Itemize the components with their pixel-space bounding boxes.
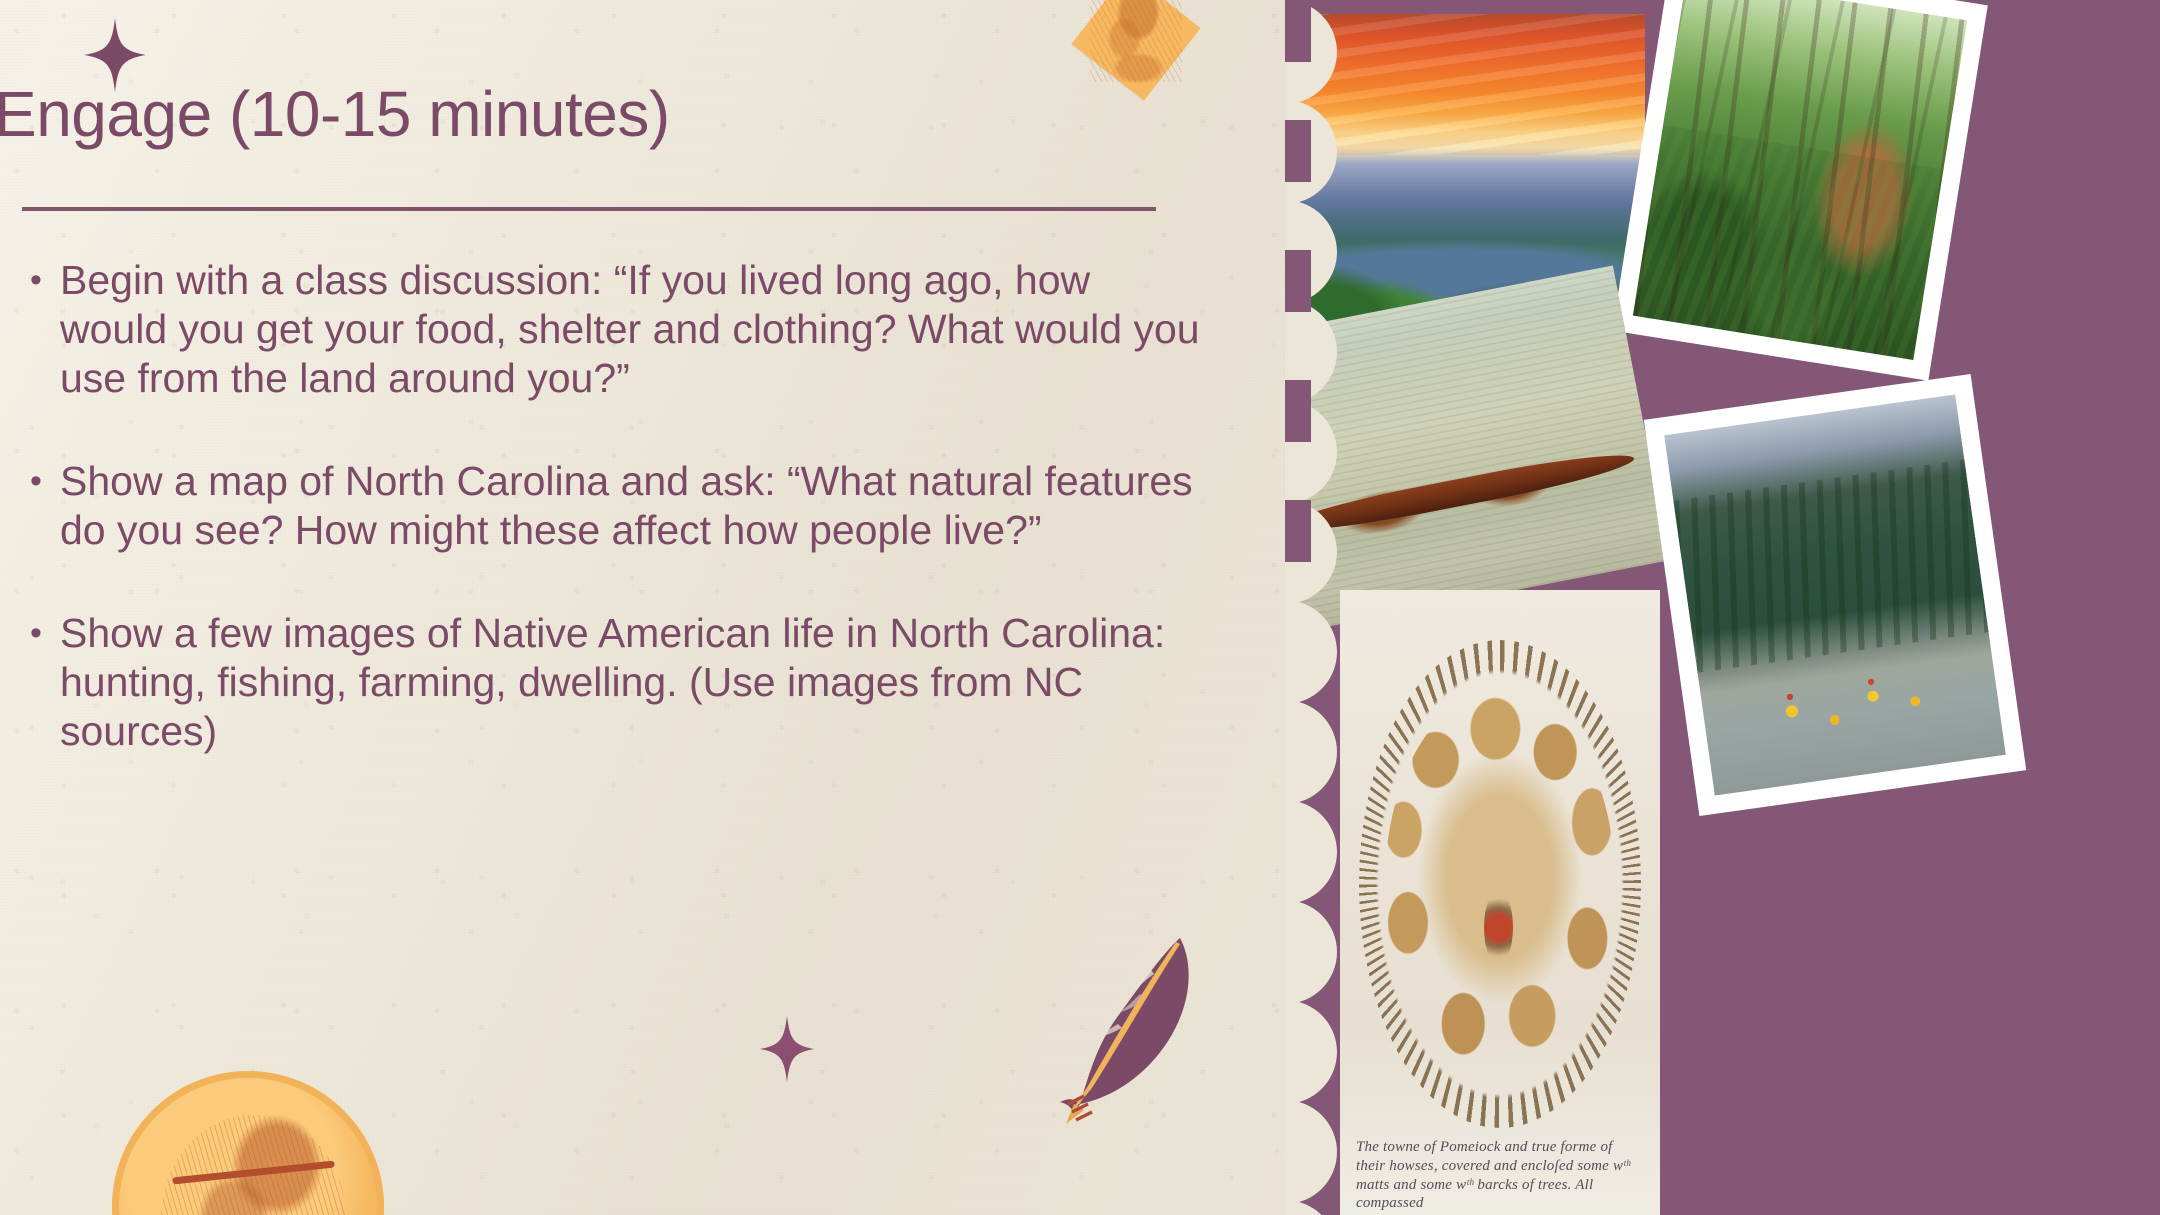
portrait-sketch-lines bbox=[1090, 0, 1182, 82]
pomeiock-village-illustration: The towne of Pomeiock and true forme of … bbox=[1340, 590, 1660, 1215]
bullet-text: Show a map of North Carolina and ask: “W… bbox=[60, 457, 1200, 555]
page-title: Engage (10-15 minutes) bbox=[0, 82, 1174, 146]
panel-tooth bbox=[1285, 500, 1311, 562]
list-item: • Show a map of North Carolina and ask: … bbox=[22, 457, 1232, 555]
bullet-text: Begin with a class discussion: “If you l… bbox=[60, 256, 1200, 403]
river-rafting-photo bbox=[1644, 374, 2026, 816]
panel-tooth bbox=[1285, 380, 1311, 442]
bullet-marker: • bbox=[22, 609, 60, 657]
scallop-notch bbox=[1285, 700, 1337, 804]
slide-canvas: The towne of Pomeiock and true forme of … bbox=[0, 0, 2160, 1215]
scallop-notch bbox=[1285, 600, 1337, 704]
slide-content: Engage (10-15 minutes) • Begin with a cl… bbox=[0, 0, 1285, 1215]
village-fire bbox=[1484, 890, 1513, 965]
scallop-notch bbox=[1285, 900, 1337, 1004]
bullet-text: Show a few images of Native American lif… bbox=[60, 609, 1200, 756]
bullet-list: • Begin with a class discussion: “If you… bbox=[22, 256, 1232, 810]
bullet-marker: • bbox=[22, 457, 60, 505]
bullet-marker: • bbox=[22, 256, 60, 304]
indians-fishing-image bbox=[1285, 266, 1670, 635]
scallop-notch bbox=[1285, 800, 1337, 904]
village-caption: The towne of Pomeiock and true forme of … bbox=[1356, 1138, 1644, 1213]
portrait-card-icon bbox=[1071, 0, 1200, 101]
panel-tooth bbox=[1285, 250, 1311, 312]
sparkle-bottom-icon bbox=[760, 1016, 814, 1082]
panel-tooth bbox=[1285, 0, 1311, 62]
river-rafting-image bbox=[1664, 394, 2006, 795]
list-item: • Begin with a class discussion: “If you… bbox=[22, 256, 1232, 403]
title-divider bbox=[22, 207, 1156, 211]
scallop-notch bbox=[1285, 1000, 1337, 1104]
forest-stream-image bbox=[1633, 0, 1967, 360]
forest-stream-photo bbox=[1612, 0, 1988, 381]
photo-collage-panel: The towne of Pomeiock and true forme of … bbox=[1285, 0, 2160, 1215]
indians-fishing-illustration bbox=[1285, 266, 1670, 635]
scallop-notch bbox=[1285, 1100, 1337, 1204]
list-item: • Show a few images of Native American l… bbox=[22, 609, 1232, 756]
feather-quill-icon bbox=[1022, 928, 1202, 1128]
panel-tooth bbox=[1285, 120, 1311, 182]
scallop-notch bbox=[1285, 1200, 1337, 1215]
village-huts bbox=[1385, 690, 1615, 1078]
scalloped-edge bbox=[1285, 0, 1337, 1215]
pomeiock-village-image: The towne of Pomeiock and true forme of … bbox=[1340, 590, 1660, 1215]
